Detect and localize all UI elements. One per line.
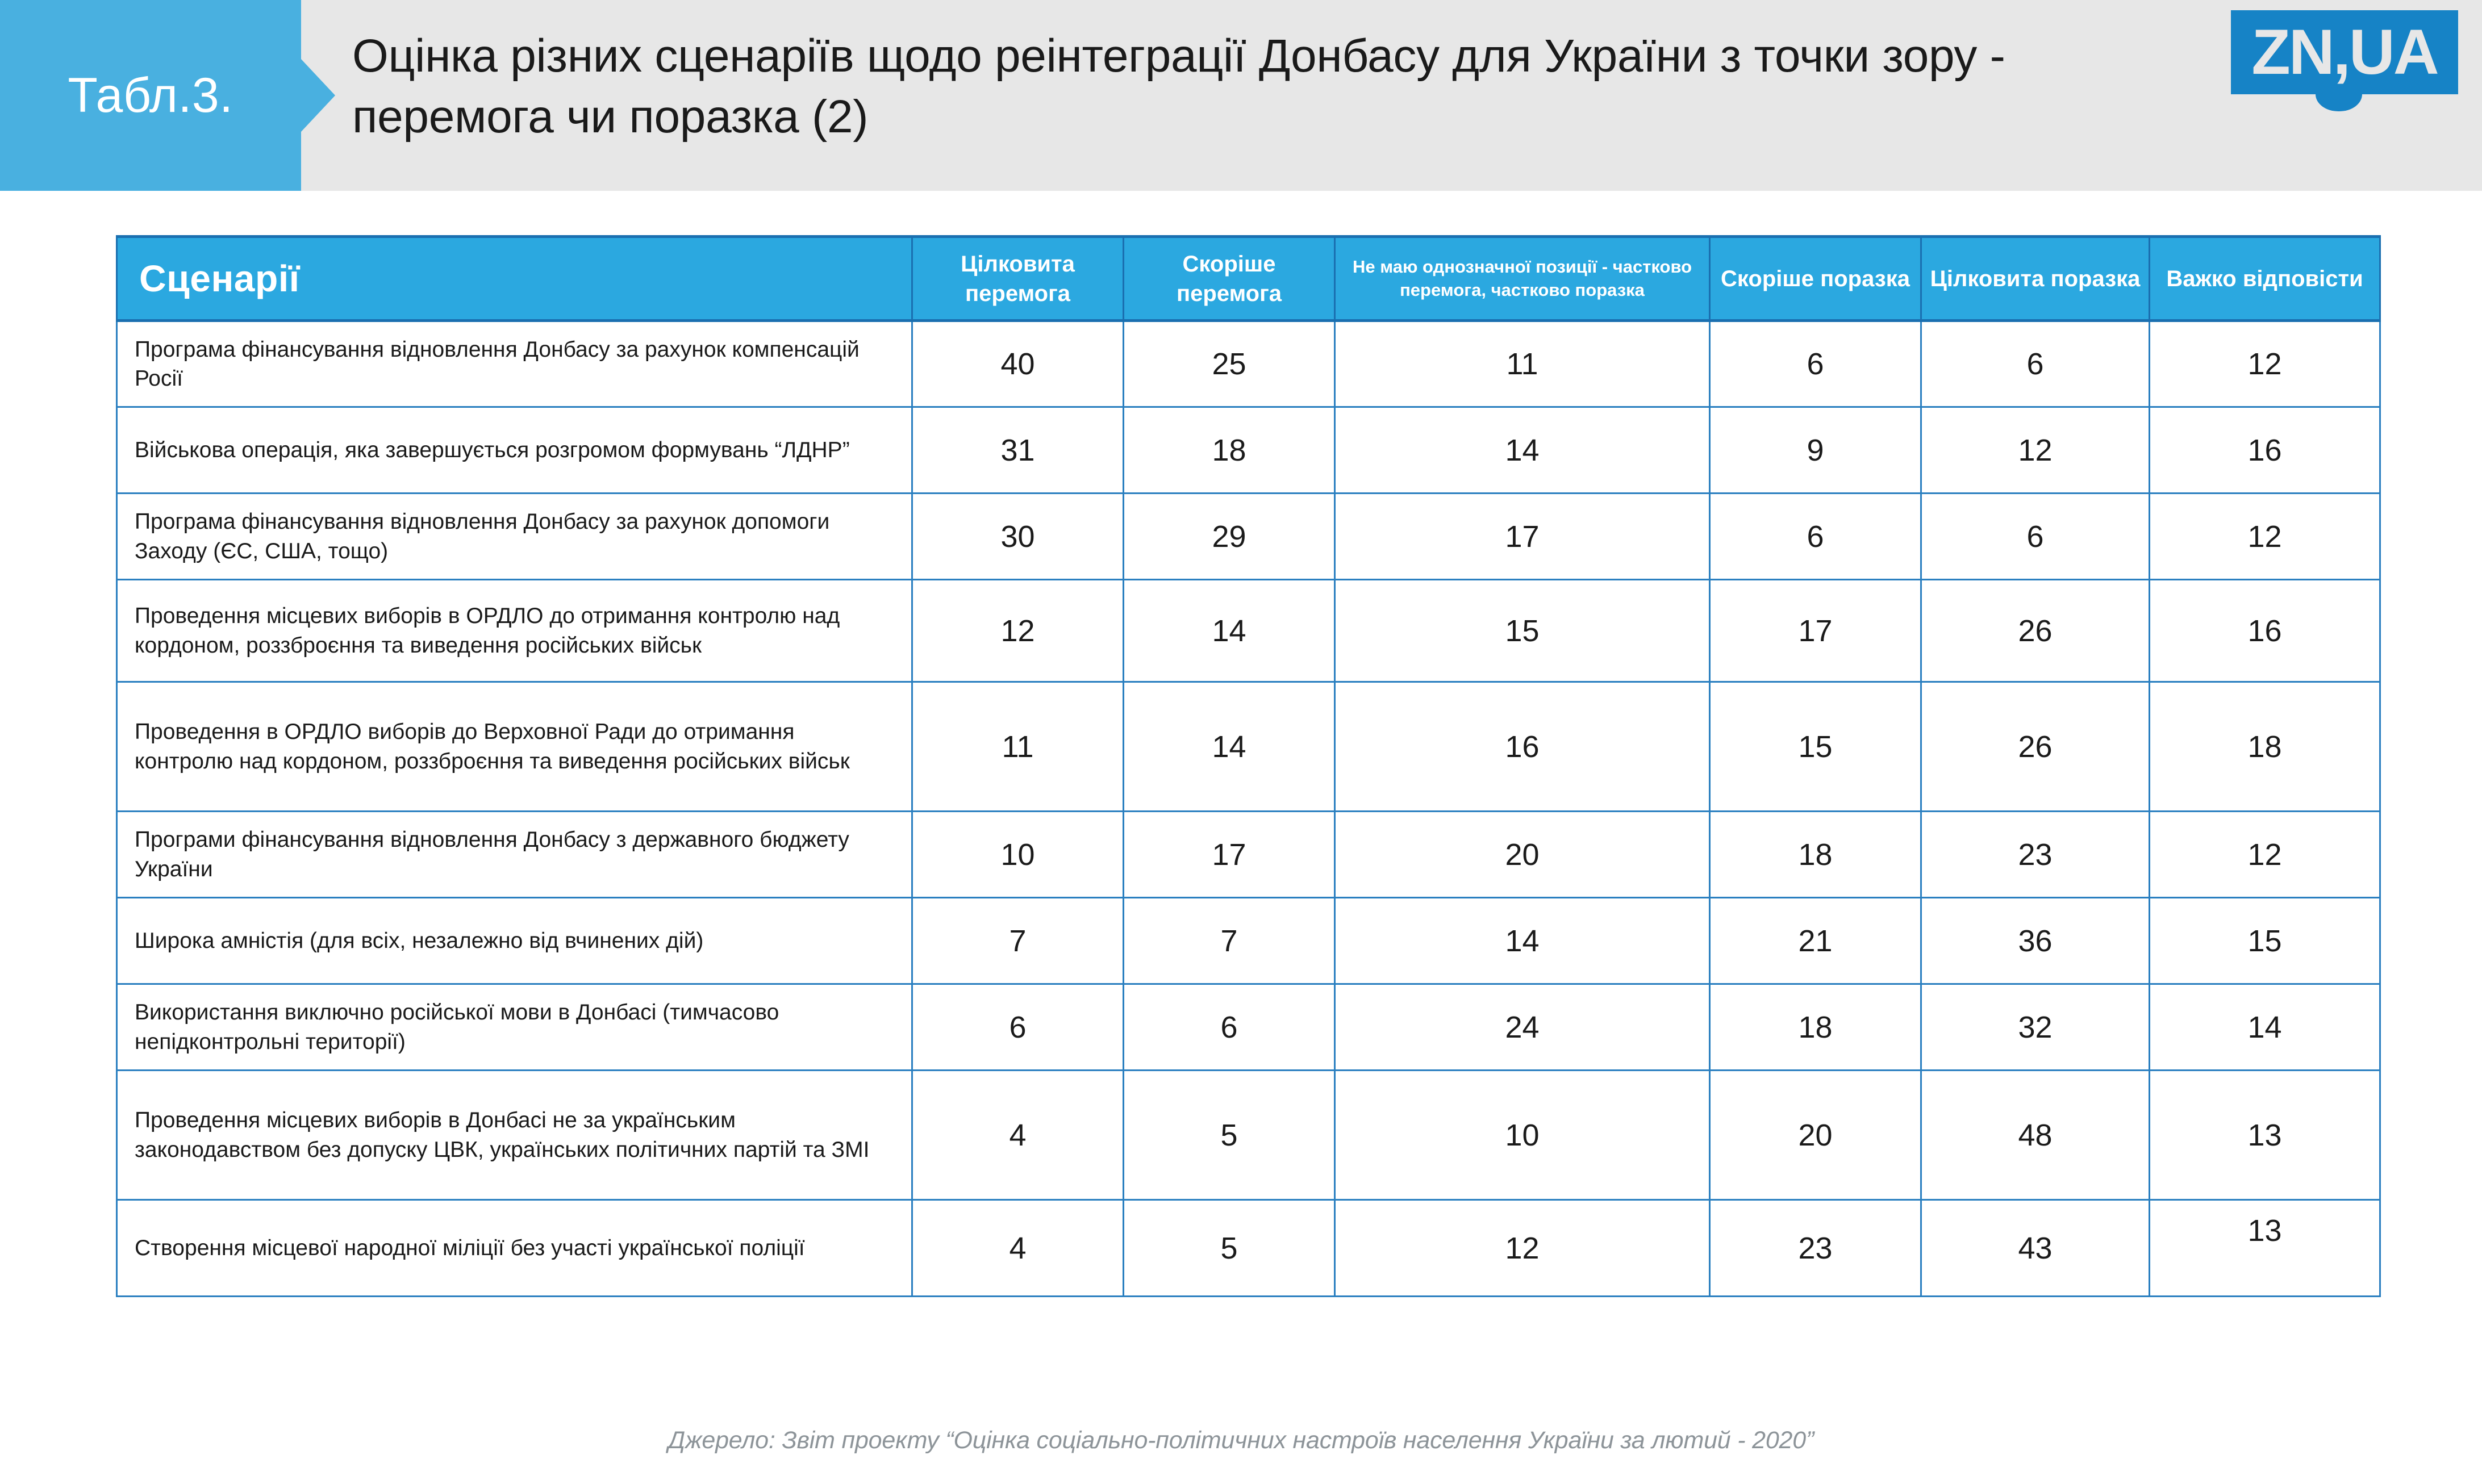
data-cell: 12	[2150, 321, 2380, 407]
table-header-row-group: Сценарії Цілковита перемога Скоріше пере…	[117, 237, 2380, 321]
table-row: Широка амністія (для всіх, незалежно від…	[117, 898, 2380, 984]
data-cell: 26	[1921, 580, 2150, 682]
table-header-row: Сценарії Цілковита перемога Скоріше пере…	[117, 237, 2380, 321]
data-cell: 5	[1124, 1071, 1335, 1200]
table-row: Програми фінансування відновлення Донбас…	[117, 812, 2380, 898]
data-cell: 10	[1335, 1071, 1710, 1200]
data-cell: 20	[1710, 1071, 1921, 1200]
column-header-total-victory: Цілковита перемога	[912, 237, 1124, 321]
source-note: Джерело: Звіт проекту “Оцінка соціально-…	[0, 1427, 2482, 1454]
data-cell: 36	[1921, 898, 2150, 984]
table-number-badge: Табл.3.	[0, 0, 301, 191]
zn-ua-logo[interactable]: ZN,UA	[2231, 10, 2458, 94]
data-cell: 43	[1921, 1200, 2150, 1297]
column-header-mixed-position: Не маю однозначної позиції - частково пе…	[1335, 237, 1710, 321]
data-cell: 6	[1124, 984, 1335, 1071]
data-cell: 12	[1335, 1200, 1710, 1297]
table-row: Проведення в ОРДЛО виборів до Верховної …	[117, 682, 2380, 812]
data-cell: 11	[1335, 321, 1710, 407]
column-header-hard-to-answer: Важко відповісти	[2150, 237, 2380, 321]
data-cell: 15	[1335, 580, 1710, 682]
table-row: Створення місцевої народної міліції без …	[117, 1200, 2380, 1297]
data-cell: 17	[1124, 812, 1335, 898]
scenario-label: Військова операція, яка завершується роз…	[117, 407, 912, 494]
table-number-label: Табл.3.	[68, 71, 233, 120]
data-cell: 6	[1921, 321, 2150, 407]
data-cell: 6	[1921, 494, 2150, 580]
data-cell: 12	[912, 580, 1124, 682]
scenario-label: Програма фінансування відновлення Донбас…	[117, 321, 912, 407]
data-cell: 4	[912, 1071, 1124, 1200]
data-cell: 15	[1710, 682, 1921, 812]
data-cell: 7	[912, 898, 1124, 984]
data-cell: 7	[1124, 898, 1335, 984]
data-cell: 20	[1335, 812, 1710, 898]
scenario-label: Широка амністія (для всіх, незалежно від…	[117, 898, 912, 984]
data-cell: 15	[2150, 898, 2380, 984]
data-cell: 13	[2150, 1071, 2380, 1200]
data-cell: 32	[1921, 984, 2150, 1071]
data-cell: 18	[1124, 407, 1335, 494]
scenario-label: Використання виключно російської мови в …	[117, 984, 912, 1071]
data-cell: 25	[1124, 321, 1335, 407]
data-cell: 21	[1710, 898, 1921, 984]
data-cell: 10	[912, 812, 1124, 898]
survey-table: Сценарії Цілковита перемога Скоріше пере…	[116, 235, 2381, 1297]
data-cell: 26	[1921, 682, 2150, 812]
table-row: Програма фінансування відновлення Донбас…	[117, 494, 2380, 580]
data-cell: 16	[2150, 580, 2380, 682]
scenario-label: Проведення місцевих виборів в Донбасі не…	[117, 1071, 912, 1200]
page-header: Табл.3. Оцінка різних сценаріїв щодо реі…	[0, 0, 2482, 191]
data-cell: 4	[912, 1200, 1124, 1297]
survey-table-container: Сценарії Цілковита перемога Скоріше пере…	[116, 235, 2379, 1297]
logo-notch-decoration	[2316, 94, 2362, 111]
data-cell: 16	[1335, 682, 1710, 812]
data-cell: 18	[1710, 812, 1921, 898]
data-cell: 13	[2150, 1200, 2380, 1297]
data-cell: 18	[2150, 682, 2380, 812]
data-cell: 6	[1710, 321, 1921, 407]
scenario-label: Програми фінансування відновлення Донбас…	[117, 812, 912, 898]
page-title: Оцінка різних сценаріїв щодо реінтеграці…	[352, 26, 2159, 147]
table-row: Військова операція, яка завершується роз…	[117, 407, 2380, 494]
data-cell: 12	[2150, 812, 2380, 898]
data-cell: 12	[1921, 407, 2150, 494]
column-header-total-defeat: Цілковита поразка	[1921, 237, 2150, 321]
data-cell: 23	[1710, 1200, 1921, 1297]
data-cell: 14	[1335, 898, 1710, 984]
data-cell: 23	[1921, 812, 2150, 898]
logo-text: ZN,UA	[2251, 20, 2437, 84]
data-cell: 14	[1335, 407, 1710, 494]
data-cell: 40	[912, 321, 1124, 407]
data-cell: 11	[912, 682, 1124, 812]
data-cell: 14	[1124, 580, 1335, 682]
data-cell: 12	[2150, 494, 2380, 580]
table-row: Використання виключно російської мови в …	[117, 984, 2380, 1071]
column-header-scenarios: Сценарії	[117, 237, 912, 321]
data-cell: 6	[912, 984, 1124, 1071]
data-cell: 31	[912, 407, 1124, 494]
column-header-rather-victory: Скоріше перемога	[1124, 237, 1335, 321]
column-header-rather-defeat: Скоріше поразка	[1710, 237, 1921, 321]
data-cell: 5	[1124, 1200, 1335, 1297]
table-row: Проведення місцевих виборів в Донбасі не…	[117, 1071, 2380, 1200]
table-body: Програма фінансування відновлення Донбас…	[117, 321, 2380, 1297]
data-cell: 48	[1921, 1071, 2150, 1200]
scenario-label: Проведення місцевих виборів в ОРДЛО до о…	[117, 580, 912, 682]
scenario-label: Проведення в ОРДЛО виборів до Верховної …	[117, 682, 912, 812]
data-cell: 6	[1710, 494, 1921, 580]
data-cell: 17	[1335, 494, 1710, 580]
table-row: Проведення місцевих виборів в ОРДЛО до о…	[117, 580, 2380, 682]
data-cell: 17	[1710, 580, 1921, 682]
scenario-label: Програма фінансування відновлення Донбас…	[117, 494, 912, 580]
data-cell: 30	[912, 494, 1124, 580]
scenario-label: Створення місцевої народної міліції без …	[117, 1200, 912, 1297]
data-cell: 14	[2150, 984, 2380, 1071]
data-cell: 24	[1335, 984, 1710, 1071]
data-cell: 18	[1710, 984, 1921, 1071]
data-cell: 29	[1124, 494, 1335, 580]
data-cell: 14	[1124, 682, 1335, 812]
data-cell: 16	[2150, 407, 2380, 494]
table-row: Програма фінансування відновлення Донбас…	[117, 321, 2380, 407]
data-cell: 9	[1710, 407, 1921, 494]
badge-chevron-icon	[301, 59, 335, 132]
